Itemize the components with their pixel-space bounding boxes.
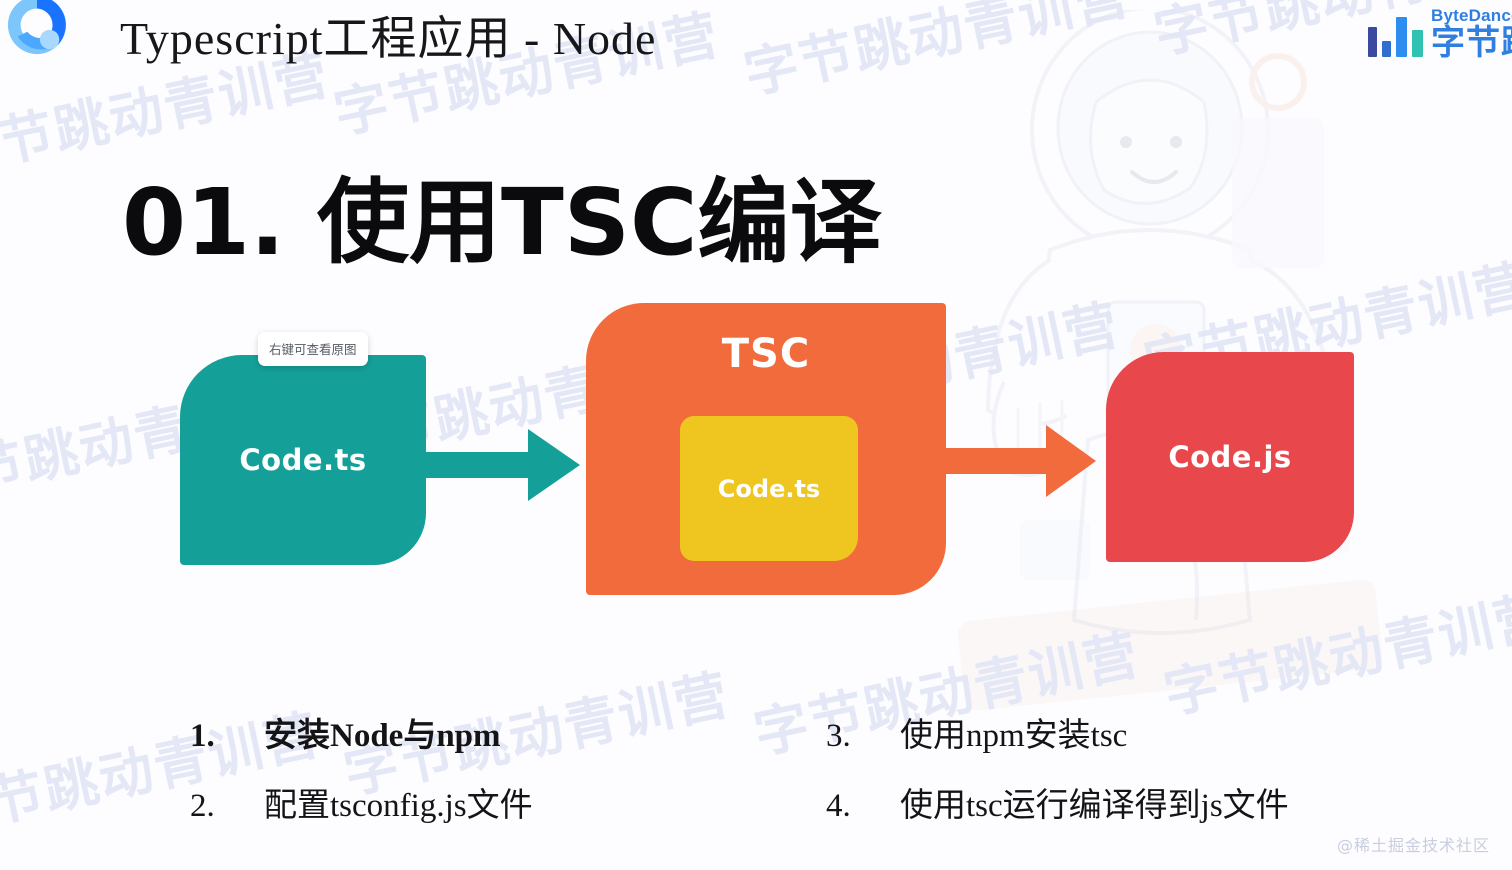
diagram-box-compiler-inner: Code.ts: [680, 416, 858, 561]
diagram-box-source-label: Code.ts: [239, 443, 366, 477]
diagram-box-output-label: Code.js: [1168, 440, 1291, 474]
view-original-tooltip: 右键可查看原图: [258, 332, 368, 366]
arrow-tsc-to-output-icon: [946, 421, 1098, 501]
list-item-label: 配置tsconfig.js文件: [264, 778, 533, 826]
slide-canvas: 字节跳动青训营 字节跳动青训营 字节跳动青训营 字节跳动青训营 字节跳动青训营 …: [0, 0, 1512, 870]
qiyun-circle-logo-icon: [6, 0, 68, 56]
diagram-box-compiler-label: TSC: [722, 331, 810, 377]
list-item-number: 1.: [190, 718, 264, 755]
diagram-box-output: Code.js: [1106, 352, 1354, 562]
section-heading: 01. 使用TSC编译: [122, 148, 882, 281]
source-credit: @稀土掘金技术社区: [1337, 832, 1490, 856]
diagram-box-source: Code.ts: [180, 355, 426, 565]
diagram-box-compiler-inner-label: Code.ts: [718, 475, 820, 503]
bytedance-bars-icon: [1368, 17, 1423, 57]
list-item: 3. 使用npm安装tsc: [826, 708, 1446, 756]
steps-left-column: 1. 安装Node与npm 2. 配置tsconfig.js文件: [190, 708, 750, 848]
list-item-number: 3.: [826, 718, 900, 755]
list-item: 2. 配置tsconfig.js文件: [190, 778, 750, 826]
list-item: 4. 使用tsc运行编译得到js文件: [826, 778, 1446, 826]
brand-name-en: ByteDance: [1431, 7, 1512, 24]
steps-right-column: 3. 使用npm安装tsc 4. 使用tsc运行编译得到js文件: [826, 708, 1446, 848]
list-item-label: 使用npm安装tsc: [900, 708, 1127, 756]
list-item-number: 4.: [826, 788, 900, 825]
arrow-source-to-tsc-icon: [424, 425, 582, 505]
page-title: Typescript工程应用 - Node: [120, 2, 656, 68]
brand-name-cn: 字节跳: [1431, 26, 1512, 60]
list-item-label: 使用tsc运行编译得到js文件: [900, 778, 1289, 826]
list-item-number: 2.: [190, 788, 264, 825]
list-item-label: 安装Node与npm: [264, 708, 501, 756]
list-item: 1. 安装Node与npm: [190, 708, 750, 756]
bytedance-brand-logo: ByteDance 字节跳: [1368, 2, 1512, 60]
